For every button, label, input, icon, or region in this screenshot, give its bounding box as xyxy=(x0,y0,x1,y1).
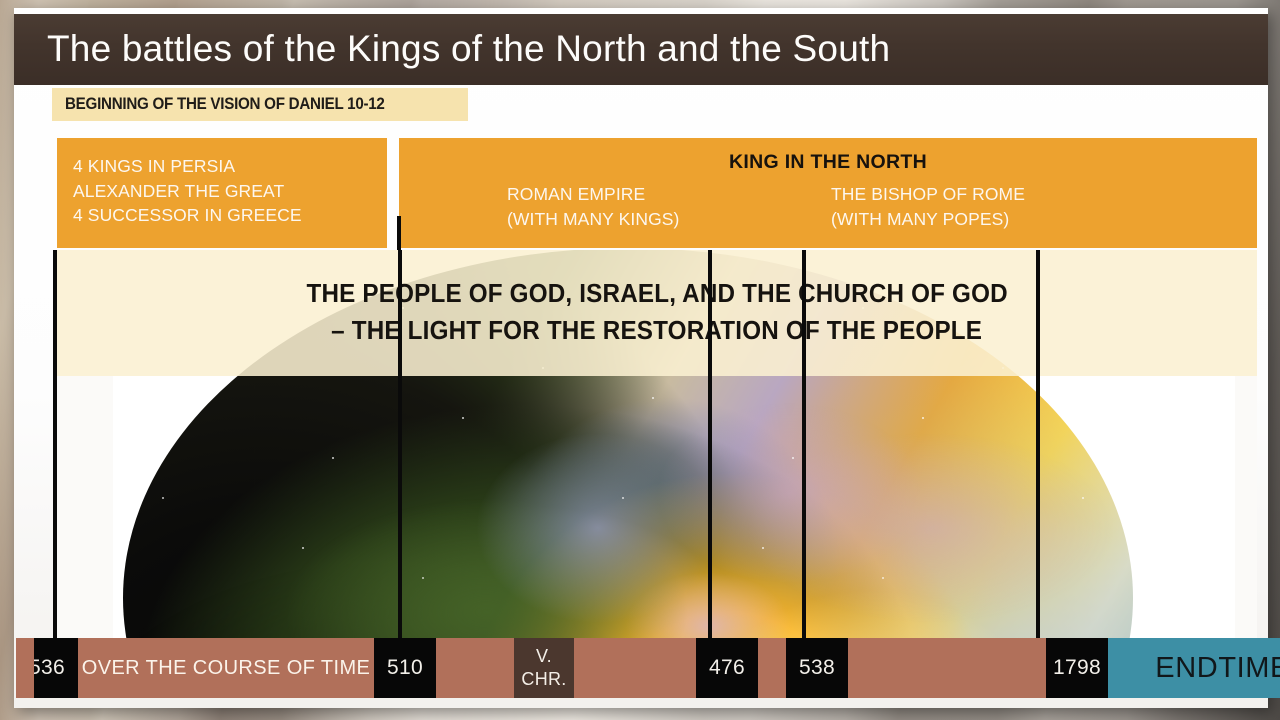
timeline-span-filler-7 xyxy=(758,638,786,698)
king-in-the-north-title: KING IN THE NORTH xyxy=(399,151,1257,174)
timeline-date-510: 510 xyxy=(374,638,436,698)
era-divider-1 xyxy=(53,250,57,640)
timeline-date-label: 476 xyxy=(709,656,745,680)
timeline-marker-v-chr: V.CHR. xyxy=(514,638,574,698)
timeline-date-1798: 1798 xyxy=(1046,638,1108,698)
vision-caption-chip: BEGINNING OF THE VISION OF DANIEL 10-12 xyxy=(52,88,468,121)
timeline-span-filler-9 xyxy=(848,638,1046,698)
people-of-god-banner: THE PEOPLE OF GOD, ISRAEL, AND THE CHURC… xyxy=(57,250,1257,376)
timeline-span-filler-5 xyxy=(574,638,696,698)
timeline-axis: 536OVER THE COURSE OF TIME510V.CHR.47653… xyxy=(16,638,1260,698)
band-gap-tick-mark xyxy=(397,216,401,250)
timeline-date-label: 1798 xyxy=(1053,656,1101,680)
timeline-date-label: 538 xyxy=(799,656,835,680)
bishop-of-rome-column: THE BISHOP OF ROME (WITH MANY POPES) xyxy=(831,182,1025,231)
left-band-line-2: ALEXANDER THE GREAT xyxy=(73,179,302,204)
roman-empire-column: ROMAN EMPIRE (WITH MANY KINGS) xyxy=(507,182,680,231)
slide-title-bar: The battles of the Kings of the North an… xyxy=(14,14,1268,85)
timeline-span-label: OVER THE COURSE OF TIME xyxy=(82,657,371,680)
era-band-persia-greece-lines: 4 KINGS IN PERSIA ALEXANDER THE GREAT 4 … xyxy=(73,154,302,228)
timeline-date-label: 510 xyxy=(387,656,423,680)
timeline-span-over-the-course-of-time: OVER THE COURSE OF TIME xyxy=(78,638,374,698)
era-divider-3 xyxy=(708,250,712,640)
era-divider-2 xyxy=(398,250,402,640)
roman-empire-line-2: (WITH MANY KINGS) xyxy=(507,207,680,232)
v-chr-line-2: CHR. xyxy=(521,668,566,691)
bishop-of-rome-line-2: (WITH MANY POPES) xyxy=(831,207,1025,232)
timeline-date-label: 536 xyxy=(29,656,65,680)
era-band-persia-greece: 4 KINGS IN PERSIA ALEXANDER THE GREAT 4 … xyxy=(57,138,387,248)
v-chr-line-1: V. xyxy=(536,645,552,668)
banner-line-1: THE PEOPLE OF GOD, ISRAEL, AND THE CHURC… xyxy=(306,276,1007,313)
era-divider-4 xyxy=(802,250,806,640)
timeline-left-sliver xyxy=(16,638,34,698)
presentation-backdrop: THE PEOPLE OF GOD, ISRAEL, AND THE CHURC… xyxy=(0,0,1280,720)
slide-canvas: THE PEOPLE OF GOD, ISRAEL, AND THE CHURC… xyxy=(14,8,1268,708)
timeline-span-filler-3 xyxy=(436,638,514,698)
left-band-line-1: 4 KINGS IN PERSIA xyxy=(73,154,302,179)
timeline-endtime-segment: ENDTIME xyxy=(1108,638,1280,698)
era-band-king-in-the-north: KING IN THE NORTH ROMAN EMPIRE (WITH MAN… xyxy=(399,138,1257,248)
timeline-date-476: 476 xyxy=(696,638,758,698)
timeline-date-538: 538 xyxy=(786,638,848,698)
page-title: The battles of the Kings of the North an… xyxy=(47,28,890,70)
timeline-endtime-label: ENDTIME xyxy=(1155,652,1280,685)
roman-empire-line-1: ROMAN EMPIRE xyxy=(507,182,680,207)
left-band-line-3: 4 SUCCESSOR IN GREECE xyxy=(73,203,302,228)
era-divider-5 xyxy=(1036,250,1040,640)
banner-line-2: – THE LIGHT FOR THE RESTORATION OF THE P… xyxy=(331,313,982,350)
vision-caption-text: BEGINNING OF THE VISION OF DANIEL 10-12 xyxy=(65,95,385,114)
bishop-of-rome-line-1: THE BISHOP OF ROME xyxy=(831,182,1025,207)
